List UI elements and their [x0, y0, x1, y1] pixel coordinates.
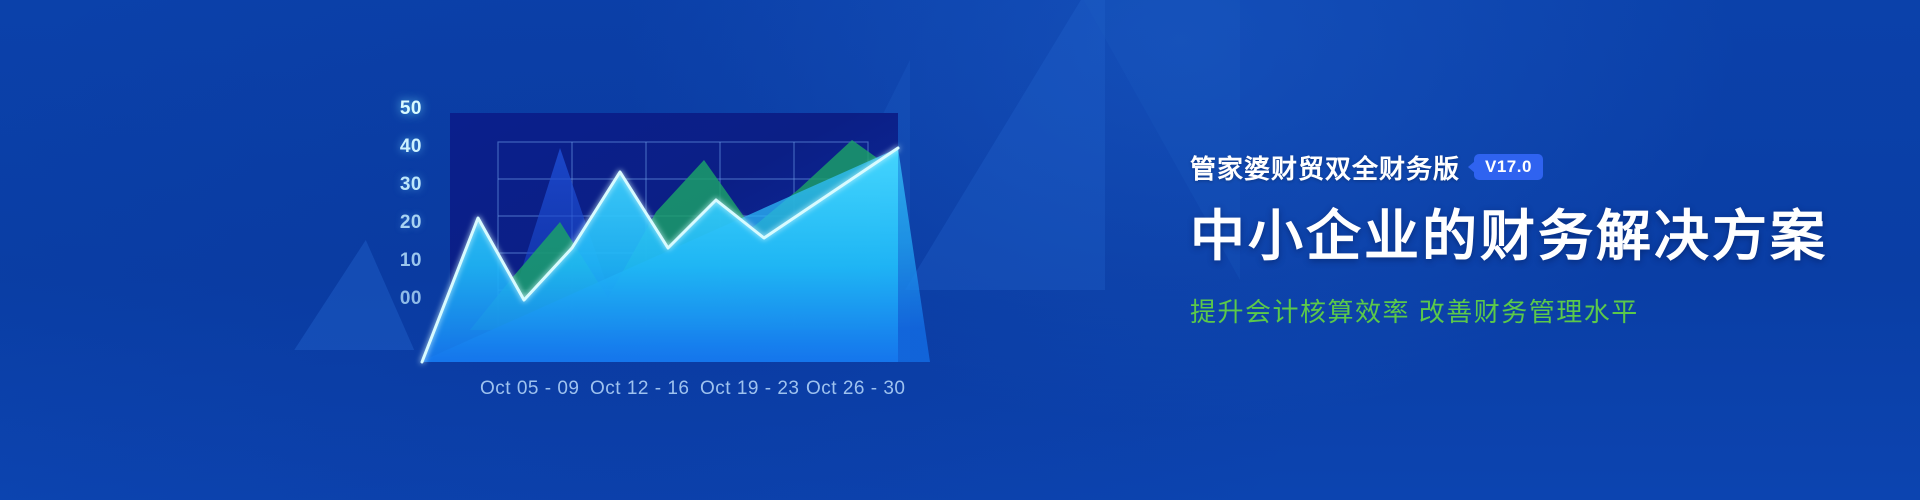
chart-canvas: [0, 0, 1000, 500]
x-axis-tick: Oct 05 - 09: [480, 378, 580, 400]
product-name-row: 管家婆财贸双全财务版 V17.0: [1190, 150, 1890, 184]
y-axis-tick: 50: [382, 98, 422, 120]
version-badge: V17.0: [1474, 154, 1543, 180]
marketing-copy-block: 管家婆财贸双全财务版 V17.0 中小企业的财务解决方案 提升会计核算效率 改善…: [1190, 150, 1890, 329]
y-axis-tick: 20: [382, 212, 422, 234]
y-axis-tick: 40: [382, 136, 422, 158]
growth-area-chart: 50 40 30 20 10 00 Oct 05 - 09 Oct 12 - 1…: [0, 0, 1000, 500]
x-axis-tick: Oct 19 - 23: [700, 378, 800, 400]
product-name: 管家婆财贸双全财务版: [1190, 149, 1460, 186]
page-title: 中小企业的财务解决方案: [1190, 208, 1890, 266]
x-axis-tick: Oct 12 - 16: [590, 378, 690, 400]
y-axis-tick: 30: [382, 174, 422, 196]
subheadline: 提升会计核算效率 改善财务管理水平: [1190, 292, 1890, 329]
promo-banner: 50 40 30 20 10 00 Oct 05 - 09 Oct 12 - 1…: [0, 0, 1920, 500]
y-axis-tick: 00: [382, 288, 422, 310]
x-axis-tick: Oct 26 - 30: [806, 378, 906, 400]
y-axis-tick: 10: [382, 250, 422, 272]
